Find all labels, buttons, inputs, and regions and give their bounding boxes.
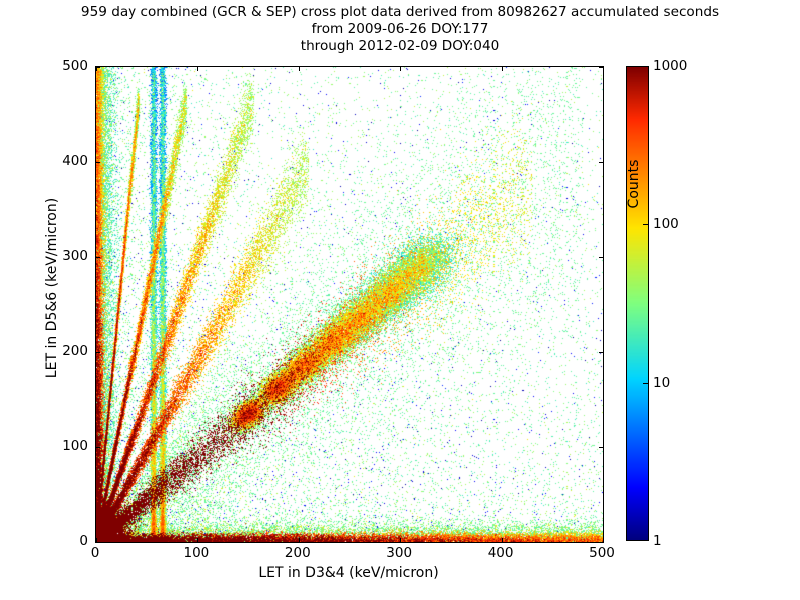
y-axis-tick-right	[599, 542, 603, 543]
colorbar-tick	[643, 224, 649, 225]
x-axis-tick-top	[197, 67, 198, 71]
colorbar-ticklabel: 1	[653, 533, 662, 549]
y-axis-tick-right	[599, 67, 603, 68]
figure-title: 959 day combined (GCR & SEP) cross plot …	[0, 4, 800, 55]
x-axis-ticklabel: 500	[589, 545, 615, 561]
y-axis-label: LET in D5&6 (keV/micron)	[44, 88, 60, 488]
x-axis-tick	[603, 538, 604, 542]
x-axis-tick	[299, 538, 300, 542]
y-axis-tick-right	[599, 162, 603, 163]
y-axis-ticklabel: 0	[79, 533, 88, 549]
figure-title-line-2: from 2009-06-26 DOY:177	[0, 21, 800, 38]
y-axis-tick	[96, 257, 100, 258]
heatmap-plot-area	[96, 67, 603, 542]
colorbar-label: Counts	[626, 64, 642, 304]
y-axis-tick-right	[599, 352, 603, 353]
y-axis-ticklabel: 400	[62, 153, 88, 169]
colorbar-tick	[643, 383, 649, 384]
x-axis-label: LET in D3&4 (keV/micron)	[95, 565, 602, 581]
x-axis-ticklabel: 400	[488, 545, 514, 561]
x-axis-tick-top	[400, 67, 401, 71]
y-axis-ticklabel: 500	[62, 58, 88, 74]
y-axis-tick	[96, 542, 100, 543]
x-axis-tick	[502, 538, 503, 542]
colorbar-ticklabel: 1000	[653, 58, 687, 74]
x-axis-ticklabel: 200	[285, 545, 311, 561]
y-axis-ticklabel: 300	[62, 248, 88, 264]
y-axis-tick	[96, 162, 100, 163]
y-axis-tick	[96, 352, 100, 353]
x-axis-tick	[400, 538, 401, 542]
x-axis-ticklabel: 0	[91, 545, 100, 561]
y-axis-ticklabel: 200	[62, 343, 88, 359]
x-axis-tick	[197, 538, 198, 542]
y-axis-tick	[96, 67, 100, 68]
figure-canvas: 959 day combined (GCR & SEP) cross plot …	[0, 0, 800, 600]
figure-title-line-1: 959 day combined (GCR & SEP) cross plot …	[0, 4, 800, 21]
colorbar-ticklabel: 10	[653, 375, 670, 391]
x-axis-tick-top	[502, 67, 503, 71]
y-axis-tick	[96, 447, 100, 448]
x-axis-tick-top	[299, 67, 300, 71]
x-axis-ticklabel: 300	[386, 545, 412, 561]
y-axis-ticklabel: 100	[62, 438, 88, 454]
y-axis-tick-right	[599, 447, 603, 448]
x-axis-tick-top	[603, 67, 604, 71]
x-axis-ticklabel: 100	[184, 545, 210, 561]
plot-axes	[95, 66, 604, 543]
figure-title-line-3: through 2012-02-09 DOY:040	[0, 38, 800, 55]
colorbar-ticklabel: 100	[653, 216, 679, 232]
y-axis-tick-right	[599, 257, 603, 258]
